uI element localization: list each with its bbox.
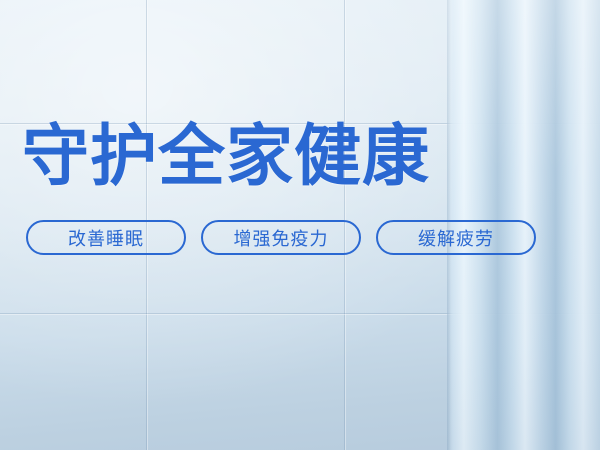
- benefit-tag-boost-immunity[interactable]: 增强免疫力: [201, 220, 361, 255]
- health-promo-banner: 守护全家健康 改善睡眠 增强免疫力 缓解疲劳: [0, 0, 600, 450]
- headline-title: 守护全家健康: [22, 121, 430, 193]
- benefit-tag-row: 改善睡眠 增强免疫力 缓解疲劳: [26, 220, 536, 255]
- benefit-tag-relieve-fatigue[interactable]: 缓解疲劳: [376, 220, 536, 255]
- banner-content: 守护全家健康 改善睡眠 增强免疫力 缓解疲劳: [0, 0, 600, 450]
- benefit-tag-improve-sleep[interactable]: 改善睡眠: [26, 220, 186, 255]
